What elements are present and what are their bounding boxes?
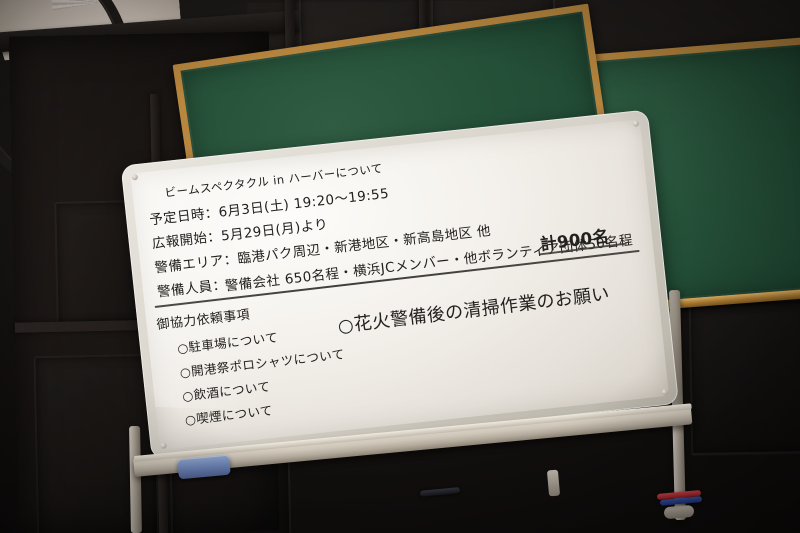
bullet-smoking: ○喫煙について <box>184 400 274 429</box>
whiteboard-surface[interactable]: ビームスペクタクル in ハーバーについて 予定日時：6月3日(土) 19:20… <box>130 119 669 450</box>
stand-post-left <box>129 426 142 533</box>
info-line-staff-label: 警備人員： <box>156 273 227 301</box>
tray-bracket-center <box>547 470 560 497</box>
section-heading: 御協力依頼事項 <box>155 304 250 333</box>
wall-panel-far-right <box>689 299 800 455</box>
photo-scene: ビームスペクタクル in ハーバーについて 予定日時：6月3日(土) 19:20… <box>0 0 800 533</box>
whiteboard-writing: ビームスペクタクル in ハーバーについて 予定日時：6月3日(土) 19:20… <box>130 119 669 450</box>
whiteboard[interactable]: ビームスペクタクル in ハーバーについて 予定日時：6月3日(土) 19:20… <box>121 109 679 460</box>
cleanup-request-note: ○花火警備後の清掃作業のお願い <box>336 280 611 339</box>
